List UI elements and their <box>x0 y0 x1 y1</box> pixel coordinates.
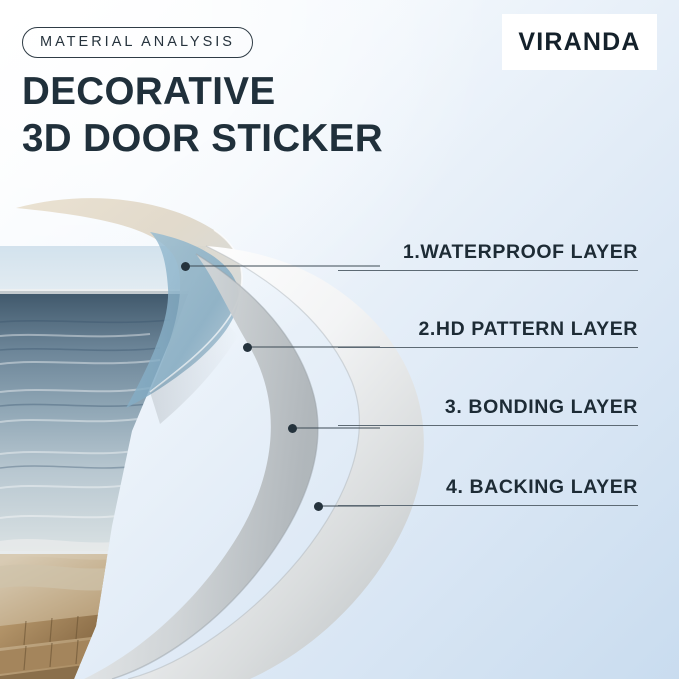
callout-label-waterproof-layer: 1.WATERPROOF LAYER <box>338 241 638 271</box>
callout-label-hd-pattern-layer: 2.HD PATTERN LAYER <box>338 318 638 348</box>
brand-logo-box: VIRANDA <box>502 14 657 70</box>
page-title-line-2: 3D DOOR STICKER <box>22 115 482 162</box>
brand-name: VIRANDA <box>518 28 640 57</box>
callout-dot-1 <box>181 262 190 271</box>
eyebrow-badge: MATERIAL ANALYSIS <box>22 27 253 58</box>
callout-dot-4 <box>314 502 323 511</box>
page-title-line-1: DECORATIVE <box>22 70 276 113</box>
callout-label-bonding-layer: 3. BONDING LAYER <box>338 396 638 426</box>
callout-dot-3 <box>288 424 297 433</box>
poster-canvas: MATERIAL ANALYSIS DECORATIVE 3D DOOR STI… <box>0 0 679 679</box>
page-title: DECORATIVE 3D DOOR STICKER <box>22 68 482 162</box>
callout-dot-2 <box>243 343 252 352</box>
callout-label-backing-layer: 4. BACKING LAYER <box>338 476 638 506</box>
